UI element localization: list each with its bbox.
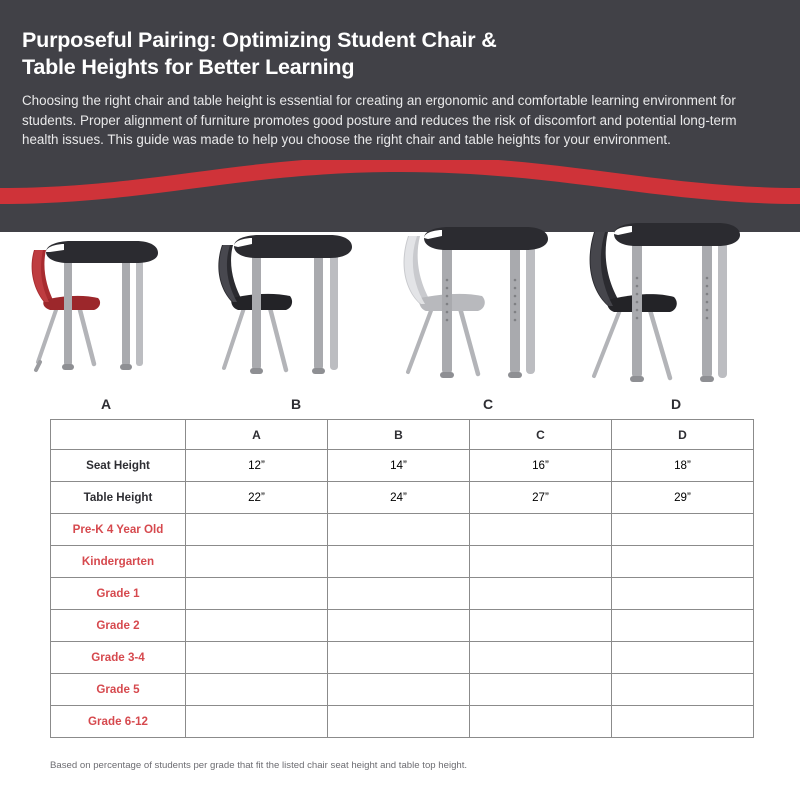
cell-grade-6-12-d: 100% <box>612 706 754 738</box>
cell-grade-2-a <box>186 610 328 642</box>
column-header-c: C <box>470 420 612 450</box>
cell-pre-k-c <box>470 514 612 546</box>
footnote-text: Based on percentage of students per grad… <box>50 760 770 771</box>
column-header-blank <box>51 420 186 450</box>
row-label-table-height: Table Height <box>51 482 186 514</box>
cell-grade-3-4-c: 100% <box>470 642 612 674</box>
table-row: Seat Height 12” 14” 16” 18” <box>51 450 754 482</box>
cell-kindergarten-b: 50% <box>328 546 470 578</box>
table-height-a: 22” <box>186 482 328 514</box>
table-row: Kindergarten 50% 50% <box>51 546 754 578</box>
row-label-grade-3-4: Grade 3-4 <box>51 642 186 674</box>
page-title: Purposeful Pairing: Optimizing Student C… <box>22 27 778 81</box>
cell-grade-6-12-a <box>186 706 328 738</box>
cell-grade-5-c <box>470 674 612 706</box>
table-row: Grade 3-4 100% <box>51 642 754 674</box>
page-title-line-1: Purposeful Pairing: Optimizing Student C… <box>22 27 778 54</box>
seat-height-d: 18” <box>612 450 754 482</box>
cell-pre-k-b <box>328 514 470 546</box>
column-header-a: A <box>186 420 328 450</box>
row-label-seat-height: Seat Height <box>51 450 186 482</box>
row-label-grade-5: Grade 5 <box>51 674 186 706</box>
cell-grade-1-b: 100% <box>328 578 470 610</box>
chair-table-illustration-c <box>392 222 584 397</box>
cell-grade-3-4-b <box>328 642 470 674</box>
table-row: Grade 2 25% 75% <box>51 610 754 642</box>
cell-grade-5-b <box>328 674 470 706</box>
seat-height-b: 14” <box>328 450 470 482</box>
furniture-set-c: C <box>392 222 584 412</box>
table-row: Pre-K 4 Year Old 100% <box>51 514 754 546</box>
chair-table-illustration-b <box>200 222 392 397</box>
column-header-b: B <box>328 420 470 450</box>
cell-grade-2-b: 25% <box>328 610 470 642</box>
cell-grade-3-4-d <box>612 642 754 674</box>
table-height-b: 24” <box>328 482 470 514</box>
page-title-line-2: Table Heights for Better Learning <box>22 54 778 81</box>
cell-kindergarten-a: 50% <box>186 546 328 578</box>
cell-grade-6-12-b <box>328 706 470 738</box>
chair-table-illustration-d <box>580 222 772 397</box>
cell-kindergarten-d <box>612 546 754 578</box>
seat-height-c: 16” <box>470 450 612 482</box>
cell-kindergarten-c <box>470 546 612 578</box>
furniture-label-c: C <box>392 396 584 412</box>
table-row: Grade 6-12 100% <box>51 706 754 738</box>
furniture-label-b: B <box>200 396 392 412</box>
furniture-set-d: D <box>580 222 772 412</box>
cell-grade-1-c <box>470 578 612 610</box>
header-text-block: Purposeful Pairing: Optimizing Student C… <box>22 27 778 150</box>
column-header-d: D <box>612 420 754 450</box>
chair-table-illustration-a <box>10 222 202 397</box>
cell-grade-2-d <box>612 610 754 642</box>
row-label-grade-6-12: Grade 6-12 <box>51 706 186 738</box>
cell-grade-5-a <box>186 674 328 706</box>
row-label-pre-k-4-year-old: Pre-K 4 Year Old <box>51 514 186 546</box>
furniture-illustrations: A B <box>0 222 800 412</box>
furniture-label-a: A <box>10 396 202 412</box>
table-height-d: 29” <box>612 482 754 514</box>
table-height-c: 27” <box>470 482 612 514</box>
table-header-row: A B C D <box>51 420 754 450</box>
cell-grade-3-4-a <box>186 642 328 674</box>
cell-pre-k-d <box>612 514 754 546</box>
table-row: Table Height 22” 24” 27” 29” <box>51 482 754 514</box>
page-subtitle: Choosing the right chair and table heigh… <box>22 91 772 150</box>
table-row: Grade 5 100% <box>51 674 754 706</box>
cell-grade-6-12-c <box>470 706 612 738</box>
row-label-grade-1: Grade 1 <box>51 578 186 610</box>
furniture-label-d: D <box>580 396 772 412</box>
furniture-set-b: B <box>200 222 392 412</box>
cell-grade-2-c: 75% <box>470 610 612 642</box>
furniture-set-a: A <box>10 222 202 412</box>
row-label-kindergarten: Kindergarten <box>51 546 186 578</box>
sizing-chart-table: A B C D Seat Height 12” 14” 16” 18” Tabl… <box>50 419 754 738</box>
cell-grade-1-a <box>186 578 328 610</box>
cell-grade-5-d: 100% <box>612 674 754 706</box>
cell-grade-1-d <box>612 578 754 610</box>
row-label-grade-2: Grade 2 <box>51 610 186 642</box>
table-row: Grade 1 100% <box>51 578 754 610</box>
header-banner: Purposeful Pairing: Optimizing Student C… <box>0 0 800 232</box>
seat-height-a: 12” <box>186 450 328 482</box>
cell-pre-k-a: 100% <box>186 514 328 546</box>
